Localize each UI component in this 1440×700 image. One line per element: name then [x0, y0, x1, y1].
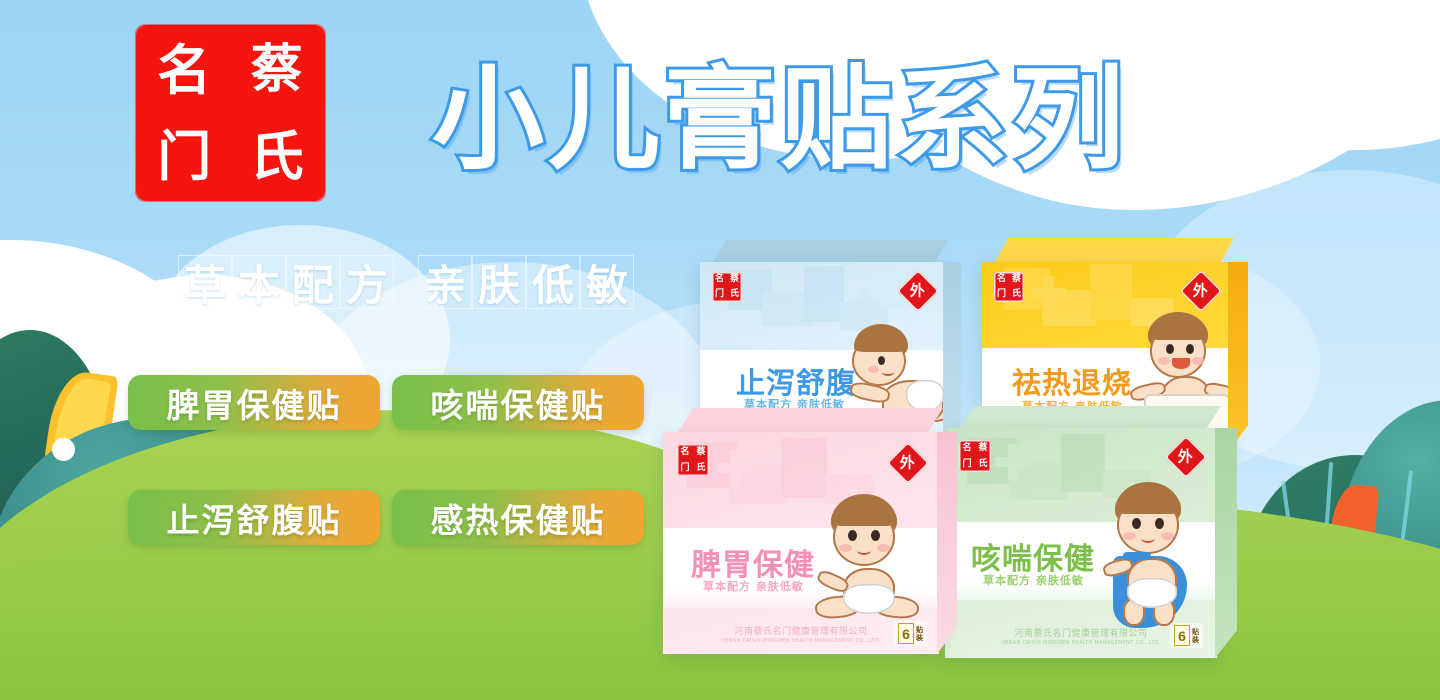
box-top-face [677, 408, 943, 434]
seal-char-men: 门 [715, 290, 724, 299]
seal-char-cai: 蔡 [1012, 275, 1021, 284]
feature-tag-piwei[interactable]: 脾胃保健贴 [128, 375, 380, 430]
baby-illustration [811, 492, 929, 637]
pack-unit-label: 贴 装 [1192, 628, 1199, 643]
pack-count-badge: 6 贴 装 [1170, 623, 1203, 648]
external-use-label: 外 [1193, 283, 1208, 298]
promo-banner: 名 蔡 门 氏 小儿膏贴系列 草 本 配 方 亲 肤 低 敏 脾胃保健贴 咳喘保… [0, 0, 1440, 700]
box-side-face [1228, 262, 1248, 452]
subtitle-char: 方 [340, 255, 394, 309]
baby-illustration [1095, 480, 1213, 632]
product-box-green[interactable]: 咳喘保健 草本配方 亲肤低敏 名 蔡 门 氏 外 [945, 428, 1217, 658]
box-product-subtitle: 草本配方 亲肤低敏 [703, 578, 804, 594]
external-use-label: 外 [910, 283, 925, 298]
pack-unit-label: 贴 装 [916, 626, 923, 641]
box-mini-seal: 名 蔡 门 氏 [959, 440, 991, 472]
external-use-label: 外 [900, 455, 915, 470]
pack-count-badge: 6 贴 装 [894, 621, 927, 646]
subtitle: 草 本 配 方 亲 肤 低 敏 [178, 255, 634, 309]
pack-count-value: 6 [898, 623, 914, 644]
seal-char-shi: 氏 [696, 464, 705, 473]
box-top-face [994, 238, 1234, 264]
feature-tag-zhixie[interactable]: 止泻舒腹贴 [128, 490, 380, 545]
feature-tag-ganre[interactable]: 感热保健贴 [392, 490, 644, 545]
feature-tag-kechuan[interactable]: 咳喘保健贴 [392, 375, 644, 430]
dot-accent-icon [52, 438, 75, 461]
box-mini-seal: 名 蔡 门 氏 [677, 444, 709, 476]
subtitle-char: 肤 [472, 255, 526, 309]
box-side-face [943, 262, 961, 452]
seal-char-cai: 蔡 [978, 444, 987, 453]
pack-count-value: 6 [1174, 625, 1190, 646]
seal-char-men: 门 [157, 129, 211, 183]
product-box-pink[interactable]: 脾胃保健 草本配方 亲肤低敏 名 蔡 门 氏 外 [663, 432, 939, 654]
subtitle-char: 敏 [580, 255, 634, 309]
seal-char-shi: 氏 [978, 460, 987, 469]
seal-char-men: 门 [997, 290, 1006, 299]
seal-char-shi: 氏 [1012, 290, 1021, 299]
box-mini-seal: 名 蔡 门 氏 [994, 272, 1024, 302]
seal-char-ming: 名 [997, 275, 1006, 284]
seal-char-cai: 蔡 [730, 275, 739, 284]
seal-char-ming: 名 [715, 275, 724, 284]
seal-char-ming: 名 [157, 43, 211, 97]
subtitle-char: 低 [526, 255, 580, 309]
box-side-face [937, 432, 957, 654]
subtitle-char: 配 [286, 255, 340, 309]
seal-char-cai: 蔡 [696, 448, 705, 457]
box-front-face: 脾胃保健 草本配方 亲肤低敏 名 蔡 门 氏 外 [663, 432, 939, 654]
box-top-face [959, 406, 1221, 430]
box-front-face: 咳喘保健 草本配方 亲肤低敏 名 蔡 门 氏 外 [945, 428, 1217, 658]
subtitle-char: 本 [232, 255, 286, 309]
box-product-subtitle: 草本配方 亲肤低敏 [983, 572, 1084, 588]
box-product-title: 祛热退烧 [1012, 360, 1132, 402]
seal-char-ming: 名 [680, 448, 689, 457]
subtitle-spacer [394, 255, 418, 309]
seal-char-men: 门 [680, 464, 689, 473]
box-mini-seal: 名 蔡 门 氏 [712, 272, 742, 302]
seal-char-ming: 名 [962, 444, 971, 453]
subtitle-char: 草 [178, 255, 232, 309]
external-use-label: 外 [1178, 449, 1193, 464]
seal-char-shi: 氏 [250, 129, 304, 183]
box-top-face [712, 240, 948, 264]
seal-char-men: 门 [962, 460, 971, 469]
seal-char-shi: 氏 [730, 290, 739, 299]
page-title: 小儿膏贴系列 [432, 58, 1128, 183]
subtitle-char: 亲 [418, 255, 472, 309]
box-side-face [1215, 428, 1237, 658]
brand-seal-logo: 名 蔡 门 氏 [138, 27, 323, 199]
seal-char-cai: 蔡 [251, 44, 303, 96]
